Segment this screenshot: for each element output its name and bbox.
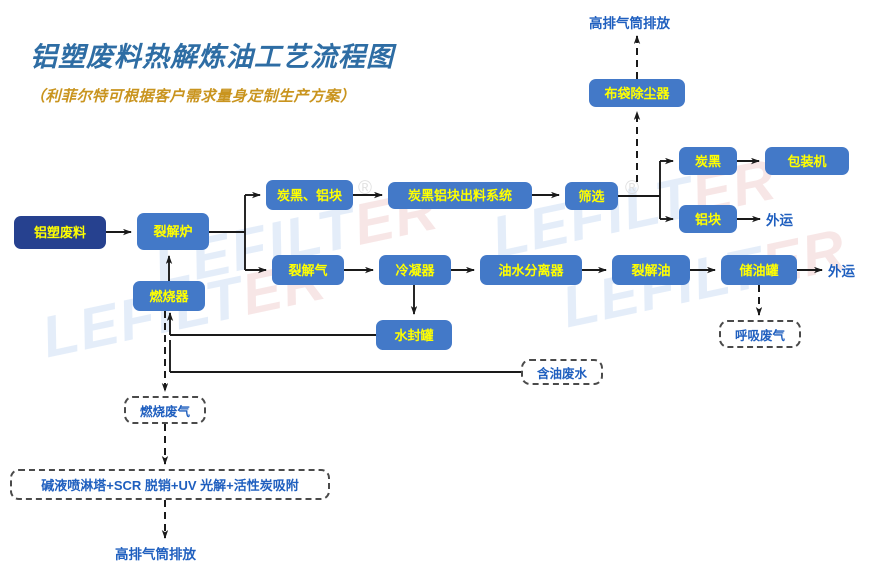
- node-condenser[interactable]: 冷凝器: [379, 255, 451, 285]
- node-feedstock[interactable]: 铝塑废料: [14, 216, 106, 249]
- node-label: 碱液喷淋塔+SCR 脱销+UV 光解+活性炭吸附: [41, 475, 299, 494]
- page-subtitle: （利菲尔特可根据客户需求量身定制生产方案）: [30, 85, 356, 106]
- label-stack-emission-bottom: 高排气筒排放: [115, 543, 196, 563]
- node-carbon-black[interactable]: 炭黑: [679, 147, 737, 175]
- node-aluminum-block[interactable]: 铝块: [679, 205, 737, 233]
- node-label: 铝塑废料: [34, 226, 86, 239]
- node-water-seal-tank[interactable]: 水封罐: [376, 320, 452, 350]
- node-label: 炭黑: [695, 155, 721, 168]
- label-stack-emission-top: 高排气筒排放: [589, 12, 670, 32]
- node-label: 燃烧废气: [140, 401, 190, 420]
- node-pyrolysis-gas[interactable]: 裂解气: [272, 255, 344, 285]
- label-text: 高排气筒排放: [589, 16, 670, 31]
- label-export-oil: 外运: [828, 260, 855, 280]
- node-treatment-train[interactable]: 碱液喷淋塔+SCR 脱销+UV 光解+活性炭吸附: [10, 469, 330, 500]
- label-export-aluminum: 外运: [766, 209, 793, 229]
- node-oil-storage-tank[interactable]: 储油罐: [721, 255, 797, 285]
- node-screening[interactable]: 筛选: [565, 182, 618, 210]
- node-label: 炭黑、铝块: [277, 189, 342, 202]
- node-label: 呼吸废气: [735, 325, 785, 344]
- node-label: 裂解油: [631, 264, 670, 277]
- node-label: 包装机: [787, 155, 826, 168]
- watermark-text: LEFILTER: [556, 216, 852, 342]
- node-burner[interactable]: 燃烧器: [133, 281, 205, 311]
- registered-mark-icon: ®: [358, 178, 372, 200]
- node-label: 储油罐: [739, 264, 778, 277]
- label-text: 外运: [828, 264, 855, 279]
- page-title: 铝塑废料热解炼油工艺流程图: [30, 35, 394, 74]
- node-label: 铝块: [695, 213, 721, 226]
- node-oil-water-separator[interactable]: 油水分离器: [480, 255, 582, 285]
- node-combustion-flue-gas[interactable]: 燃烧废气: [124, 396, 206, 424]
- node-label: 裂解炉: [153, 225, 192, 238]
- node-label: 裂解气: [288, 264, 327, 277]
- node-label: 筛选: [578, 190, 604, 203]
- node-pyrolysis-oil[interactable]: 裂解油: [612, 255, 690, 285]
- node-label: 炭黑铝块出料系统: [408, 189, 512, 202]
- node-label: 布袋除尘器: [604, 87, 669, 100]
- node-oily-wastewater[interactable]: 含油废水: [521, 359, 603, 385]
- node-discharge-system[interactable]: 炭黑铝块出料系统: [388, 182, 532, 209]
- node-label: 燃烧器: [149, 290, 188, 303]
- node-label: 冷凝器: [395, 264, 434, 277]
- label-text: 高排气筒排放: [115, 547, 196, 562]
- registered-mark-icon: ®: [625, 178, 639, 200]
- label-text: 外运: [766, 213, 793, 228]
- node-label: 含油废水: [537, 363, 587, 382]
- node-pyrolysis-furnace[interactable]: 裂解炉: [137, 213, 209, 250]
- node-label: 油水分离器: [498, 264, 563, 277]
- node-bag-filter[interactable]: 布袋除尘器: [589, 79, 685, 107]
- node-label: 水封罐: [394, 329, 433, 342]
- watermark-text: LEFILTER: [486, 146, 782, 272]
- node-carbon-black-aluminum[interactable]: 炭黑、铝块: [266, 180, 353, 210]
- node-breathing-waste-gas[interactable]: 呼吸废气: [719, 320, 801, 348]
- flowchart-canvas: LEFILTER LEFILTER LEFILTER LEFILTER ® ® …: [0, 0, 870, 570]
- node-packing-machine[interactable]: 包装机: [765, 147, 849, 175]
